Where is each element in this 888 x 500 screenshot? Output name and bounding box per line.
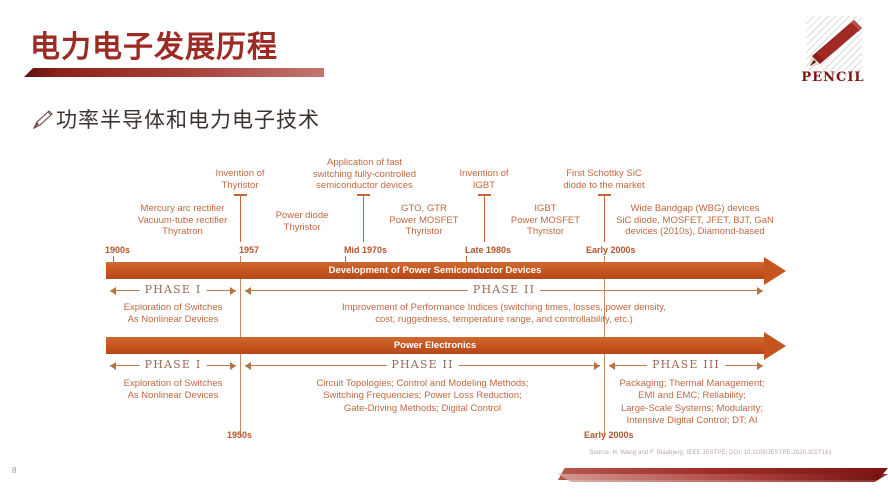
phase-measure: PHASE III xyxy=(609,360,763,372)
measure-arrow-left-icon xyxy=(245,287,251,295)
boundary-year-label: Early 2000s xyxy=(584,430,634,440)
phase-label: PHASE II xyxy=(386,358,458,371)
event-lower-label: Power diode Thyristor xyxy=(259,210,345,233)
timeline-figure: Invention of Thyristor Application of fa… xyxy=(0,0,888,500)
measure-arrow-right-icon xyxy=(757,362,763,370)
measure-arrow-left-icon xyxy=(245,362,251,370)
event-tick-pin xyxy=(484,194,485,242)
phase-description: Circuit Topologies; Control and Modeling… xyxy=(250,378,595,415)
measure-arrow-right-icon xyxy=(594,362,600,370)
event-tick-pin xyxy=(363,194,364,242)
year-label: Late 1980s xyxy=(465,245,511,255)
year-label: Mid 1970s xyxy=(344,245,387,255)
phase-label: PHASE I xyxy=(140,358,207,371)
year-label: Early 2000s xyxy=(586,245,636,255)
power-electronics-bar-arrowhead xyxy=(764,332,786,360)
phase-label: PHASE I xyxy=(140,283,207,296)
measure-arrow-left-icon xyxy=(110,362,116,370)
phase-label: PHASE III xyxy=(647,358,725,371)
measure-arrow-left-icon xyxy=(110,287,116,295)
phase-description: Exploration of Switches As Nonlinear Dev… xyxy=(110,302,236,327)
event-lower-label: IGBT Power MOSFET Thyristor xyxy=(503,203,588,238)
slide-root: 电力电子发展历程 功率半导体和电力电子技术 PENCIL Invention o… xyxy=(0,0,888,500)
event-upper-label: Invention of Thyristor xyxy=(190,168,290,191)
measure-arrow-right-icon xyxy=(230,362,236,370)
event-lower-label: Mercury arc rectifier Vacuum-tube rectif… xyxy=(120,203,245,238)
source-citation: Source: H. Wang and F. Blaabjerg, IEEE J… xyxy=(589,450,832,456)
phase-measure: PHASE II xyxy=(245,285,763,297)
phase-label: PHASE II xyxy=(468,283,540,296)
phase-description: Exploration of Switches As Nonlinear Dev… xyxy=(110,378,236,403)
phase-measure: PHASE I xyxy=(110,285,236,297)
measure-arrow-right-icon xyxy=(757,287,763,295)
phase-description: Improvement of Performance Indices (swit… xyxy=(245,302,763,327)
year-label: 1900s xyxy=(105,245,130,255)
semiconductor-devices-bar-label: Development of Power Semiconductor Devic… xyxy=(106,262,764,279)
power-electronics-bar-label: Power Electronics xyxy=(106,337,764,354)
phase-description: Packaging; Thermal Management; EMI and E… xyxy=(606,378,778,428)
event-upper-label: Application of fast switching fully-cont… xyxy=(292,157,437,192)
measure-arrow-right-icon xyxy=(230,287,236,295)
measure-arrow-left-icon xyxy=(609,362,615,370)
footer-accent-bar-secondary xyxy=(558,474,888,482)
phase-measure: PHASE I xyxy=(110,360,236,372)
semiconductor-devices-bar-arrowhead xyxy=(764,257,786,285)
boundary-year-label: 1950s xyxy=(227,430,252,440)
phase-measure: PHASE II xyxy=(245,360,600,372)
event-lower-label: GTO, GTR Power MOSFET Thyristor xyxy=(379,203,469,238)
page-number: 8 xyxy=(12,466,16,475)
event-upper-label: Invention of IGBT xyxy=(434,168,534,191)
event-lower-label: Wide Bandgap (WBG) devices SiC diode, MO… xyxy=(610,203,780,238)
event-tick-pin xyxy=(604,194,605,242)
event-upper-label: First Schottky SiC diode to the market xyxy=(540,168,668,191)
year-label: 1957 xyxy=(239,245,259,255)
